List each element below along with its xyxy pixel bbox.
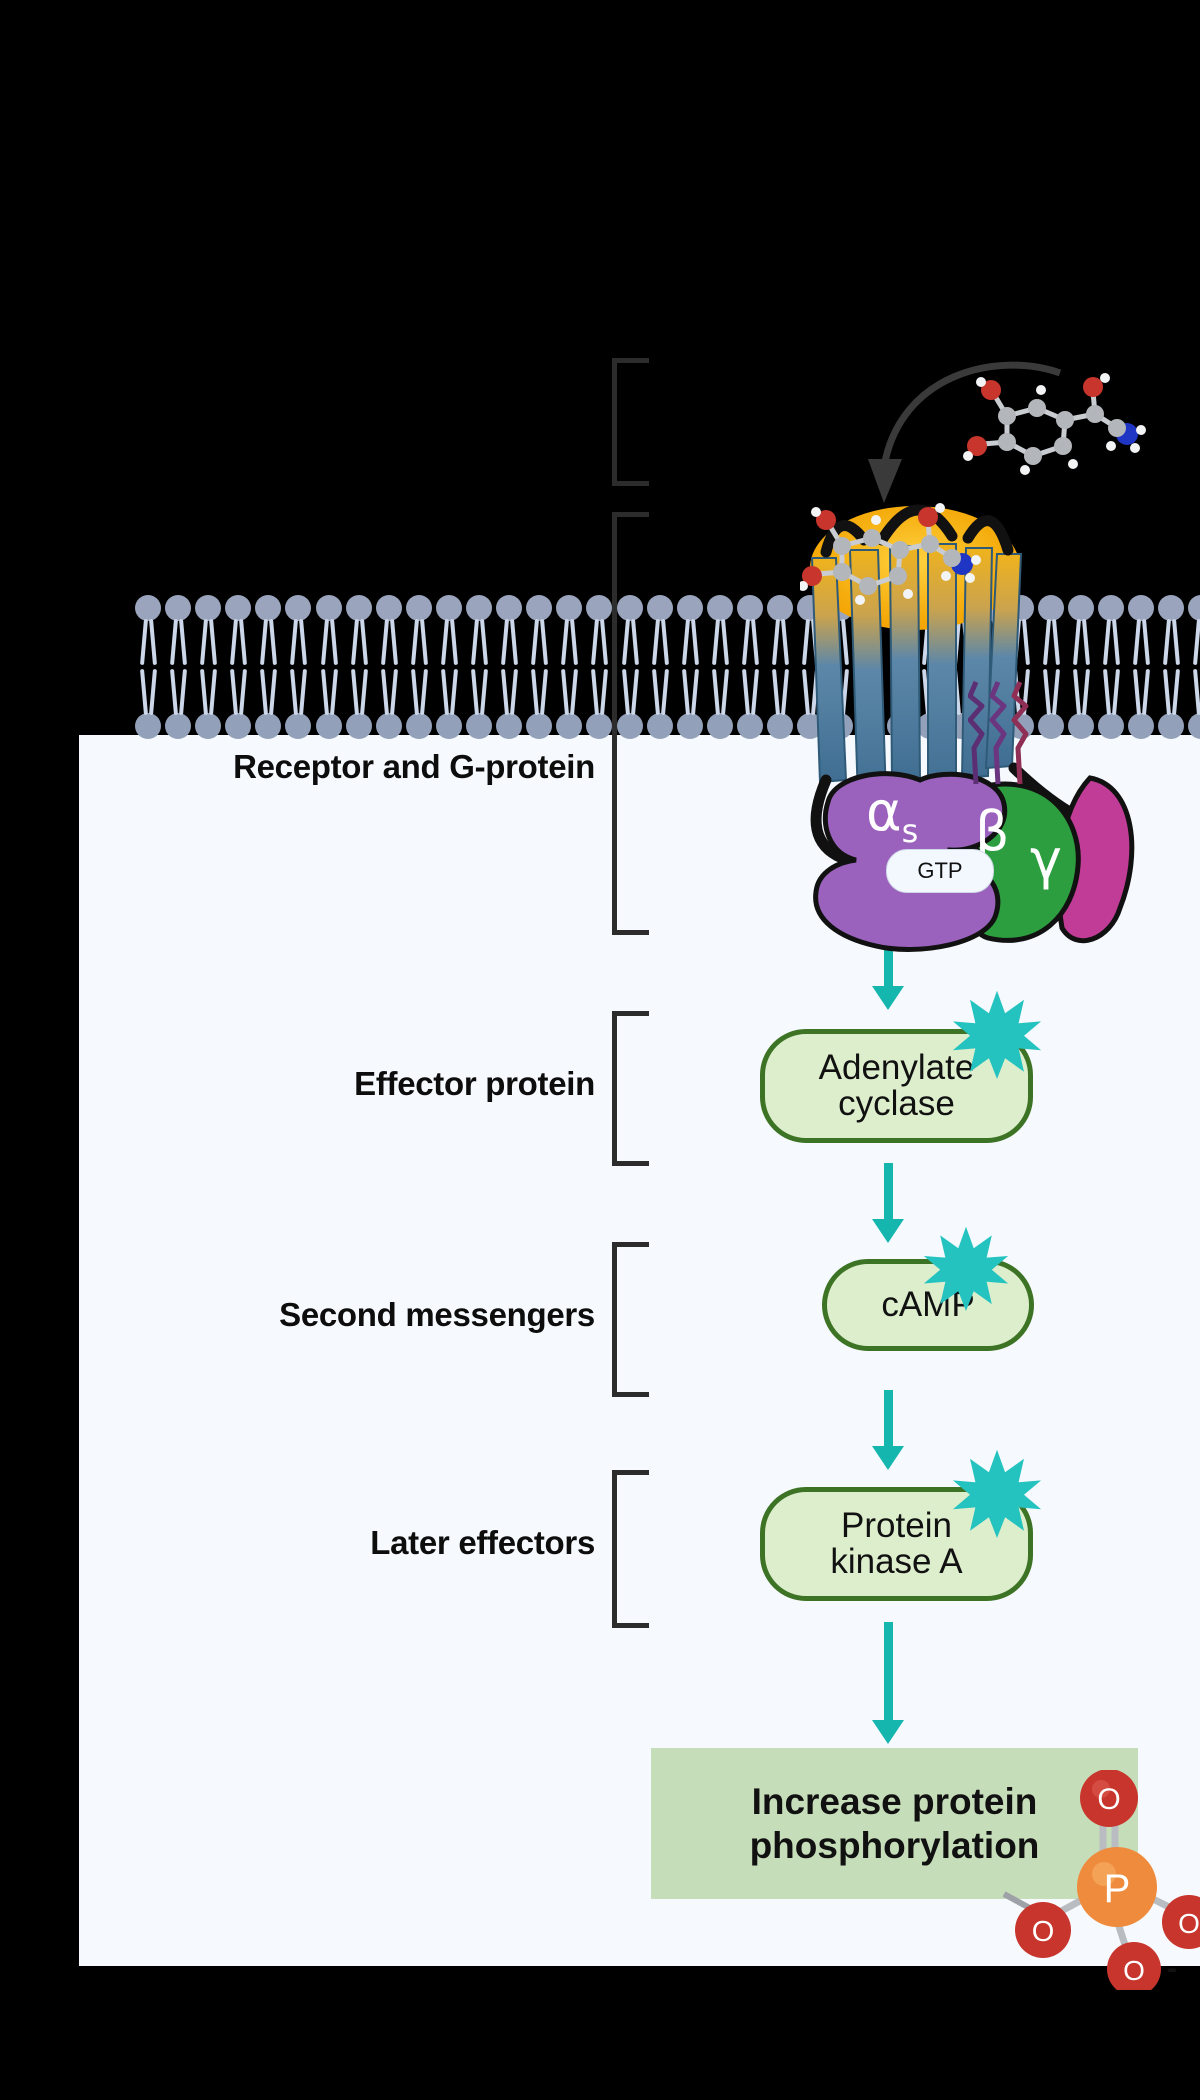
lipid-tail-icon [200,619,208,665]
lipid-tail-icon [712,669,720,715]
lipid-tail-icon [140,669,148,715]
lipid-molecule [675,667,705,739]
lipid-tail-icon [351,669,359,715]
lipid-tail-icon [501,619,509,665]
lipid-head-icon [376,713,402,739]
lipid-tail-icon [531,619,539,665]
lipid-tail-icon [652,619,660,665]
lipid-head-icon [436,595,462,621]
lipid-tail-icon [501,669,509,715]
lipid-head-icon [466,595,492,621]
lipid-head-icon [586,713,612,739]
phosphate-group-icon: O P O O - O - [1000,1770,1200,1990]
lipid-head-icon [737,595,763,621]
lipid-tail-icon [691,669,699,715]
lipid-tail-icon [360,669,368,715]
lipid-tail-icon [600,669,608,715]
lipid-tail-icon [149,669,157,715]
lipid-tail-icon [321,669,329,715]
lipid-tail-icon [260,619,268,665]
lipid-molecule [253,667,283,739]
lipid-molecule [554,667,584,739]
lipid-molecule [283,595,313,667]
diagram-canvas: Sally Kim (https://www.biorender.com/tem… [0,0,1200,2100]
lipid-tail-icon [290,619,298,665]
lipid-molecule [494,667,524,739]
stage-label-second-messengers: Second messengers [60,1296,595,1334]
burst-icon-adenylate-cyclase [952,989,1042,1079]
lipid-tail-icon [691,619,699,665]
lipid-head-icon [346,595,372,621]
lipid-tail-icon [260,669,268,715]
svg-text:O: O [1032,1916,1055,1948]
lipid-tail-icon [420,619,428,665]
lipid-tail-icon [561,669,569,715]
lipid-molecule [223,595,253,667]
lipid-head-icon [496,713,522,739]
lipid-tail-icon [450,619,458,665]
arrow-pka-to-outcome [884,1622,893,1722]
stage-label-effector-protein: Effector protein [60,1065,595,1103]
outcome-line1: Increase protein [750,1780,1040,1824]
arrow-camp-to-pka [884,1390,893,1448]
lipid-tail-icon [200,669,208,715]
lipid-tail-icon [591,619,599,665]
lipid-head-icon [526,713,552,739]
lipid-molecule [705,595,735,667]
lipid-tail-icon [480,669,488,715]
lipid-tail-icon [230,619,238,665]
lipid-tail-icon [209,669,217,715]
lipid-molecule [434,595,464,667]
free-ligand-icon [960,370,1160,480]
lipid-head-icon [707,713,733,739]
lipid-tail-icon [540,669,548,715]
bracket-extracellular [612,358,649,486]
lipid-tail-icon [360,619,368,665]
lipid-tail-icon [540,619,548,665]
lipid-molecule [524,595,554,667]
stage-label-later-effectors: Later effectors [60,1524,595,1562]
lipid-tail-icon [471,619,479,665]
node-label-line2: cyclase [838,1086,955,1122]
lipid-molecule [464,667,494,739]
lipid-tail-icon [721,619,729,665]
lipid-tail-icon [239,619,247,665]
lipid-tail-icon [742,669,750,715]
lipid-head-icon [406,713,432,739]
lipid-molecule [193,667,223,739]
svg-text:O: O [1178,1908,1200,1939]
lipid-head-icon [195,713,221,739]
lipid-tail-icon [170,619,178,665]
lipid-head-icon [165,595,191,621]
lipid-head-icon [677,713,703,739]
lipid-head-icon [496,595,522,621]
lipid-tail-icon [209,619,217,665]
lipid-tail-icon [772,619,780,665]
lipid-tail-icon [299,669,307,715]
lipid-head-icon [526,595,552,621]
stage-label-receptor-and-g-protein: Receptor and G-protein [60,748,595,786]
lipid-head-icon [195,595,221,621]
lipid-molecule [434,667,464,739]
lipid-tail-icon [471,669,479,715]
lipid-tail-icon [321,619,329,665]
g-alpha-s-label: αs [866,780,918,850]
lipid-molecule [133,595,163,667]
lipid-tail-icon [570,619,578,665]
lipid-tail-icon [652,669,660,715]
lipid-molecule [645,667,675,739]
lipid-head-icon [466,713,492,739]
lipid-tail-icon [721,669,729,715]
lipid-tail-icon [661,669,669,715]
lipid-tail-icon [239,669,247,715]
prenyl-anchor-icon [968,680,1038,790]
lipid-head-icon [376,595,402,621]
lipid-molecule [314,667,344,739]
svg-text:O: O [1123,1955,1145,1986]
lipid-head-icon [707,595,733,621]
lipid-molecule [404,667,434,739]
lipid-molecule [223,667,253,739]
lipid-head-icon [285,713,311,739]
lipid-molecule [374,595,404,667]
lipid-head-icon [556,713,582,739]
lipid-molecule [374,667,404,739]
lipid-head-icon [346,713,372,739]
lipid-tail-icon [381,619,389,665]
svg-text:-: - [1167,1952,1177,1985]
lipid-head-icon [586,595,612,621]
lipid-tail-icon [269,619,277,665]
lipid-tail-icon [290,669,298,715]
lipid-molecule [464,595,494,667]
lipid-tail-icon [170,669,178,715]
gtp-nucleotide-label: GTP [886,849,994,893]
lipid-molecule [584,667,614,739]
lipid-head-icon [316,713,342,739]
bracket-second-messengers [612,1242,649,1397]
lipid-tail-icon [480,619,488,665]
lipid-head-icon [165,713,191,739]
g-gamma-label: γ [1030,828,1062,891]
lipid-molecule [163,595,193,667]
lipid-tail-icon [441,619,449,665]
lipid-tail-icon [299,619,307,665]
lipid-tail-icon [179,669,187,715]
lipid-tail-icon [179,619,187,665]
lipid-tail-icon [600,619,608,665]
lipid-molecule [645,595,675,667]
lipid-molecule [133,667,163,739]
svg-text:O: O [1097,1783,1120,1816]
lipid-molecule [193,595,223,667]
burst-icon-camp [923,1225,1009,1311]
lipid-molecule [283,667,313,739]
outcome-line2: phosphorylation [750,1824,1040,1868]
alpha-glyph: α [866,780,902,843]
lipid-tail-icon [411,619,419,665]
lipid-tail-icon [140,619,148,665]
lipid-head-icon [677,595,703,621]
arrow-cyclase-to-camp [884,1163,893,1221]
lipid-head-icon [647,595,673,621]
lipid-tail-icon [230,669,238,715]
lipid-head-icon [225,713,251,739]
lipid-tail-icon [531,669,539,715]
node-label-line2: kinase A [830,1544,962,1580]
lipid-tail-icon [411,669,419,715]
lipid-molecule [554,595,584,667]
node-label-line1: Protein [841,1508,952,1544]
lipid-tail-icon [450,669,458,715]
lipid-tail-icon [381,669,389,715]
lipid-head-icon [135,713,161,739]
lipid-tail-icon [510,619,518,665]
lipid-molecule [253,595,283,667]
lipid-molecule [344,667,374,739]
lipid-tail-icon [712,619,720,665]
bracket-effector-protein [612,1011,649,1166]
lipid-tail-icon [591,669,599,715]
lipid-head-icon [225,595,251,621]
lipid-molecule [314,595,344,667]
lipid-tail-icon [772,669,780,715]
lipid-tail-icon [330,669,338,715]
bracket-later-effectors [612,1470,649,1628]
lipid-tail-icon [781,669,789,715]
lipid-head-icon [285,595,311,621]
lipid-tail-icon [661,619,669,665]
lipid-head-icon [737,713,763,739]
lipid-tail-icon [441,669,449,715]
lipid-tail-icon [390,669,398,715]
lipid-tail-icon [420,669,428,715]
lipid-tail-icon [351,619,359,665]
lipid-tail-icon [570,669,578,715]
lipid-molecule [404,595,434,667]
alpha-subscript: s [902,812,919,850]
lipid-molecule [524,667,554,739]
lipid-molecule [494,595,524,667]
lipid-head-icon [135,595,161,621]
lipid-molecule [675,595,705,667]
lipid-tail-icon [510,669,518,715]
lipid-tail-icon [269,669,277,715]
lipid-tail-icon [751,669,759,715]
lipid-molecule [344,595,374,667]
lipid-tail-icon [751,619,759,665]
lipid-tail-icon [390,619,398,665]
bracket-receptor-g-protein [612,512,649,935]
lipid-tail-icon [682,669,690,715]
lipid-tail-icon [330,619,338,665]
lipid-head-icon [556,595,582,621]
lipid-tail-icon [781,619,789,665]
node-label-line1: Adenylate [819,1050,975,1086]
svg-text:P: P [1104,1867,1131,1911]
lipid-tail-icon [149,619,157,665]
bound-ligand-icon [800,500,990,610]
lipid-tail-icon [561,619,569,665]
lipid-head-icon [647,713,673,739]
lipid-tail-icon [682,619,690,665]
burst-icon-protein-kinase-a [952,1448,1042,1538]
lipid-head-icon [255,713,281,739]
lipid-molecule [735,667,765,739]
lipid-head-icon [436,713,462,739]
lipid-molecule [735,595,765,667]
lipid-head-icon [316,595,342,621]
lipid-head-icon [406,595,432,621]
lipid-molecule [163,667,193,739]
lipid-molecule [584,595,614,667]
lipid-head-icon [255,595,281,621]
lipid-molecule [705,667,735,739]
lipid-tail-icon [742,619,750,665]
